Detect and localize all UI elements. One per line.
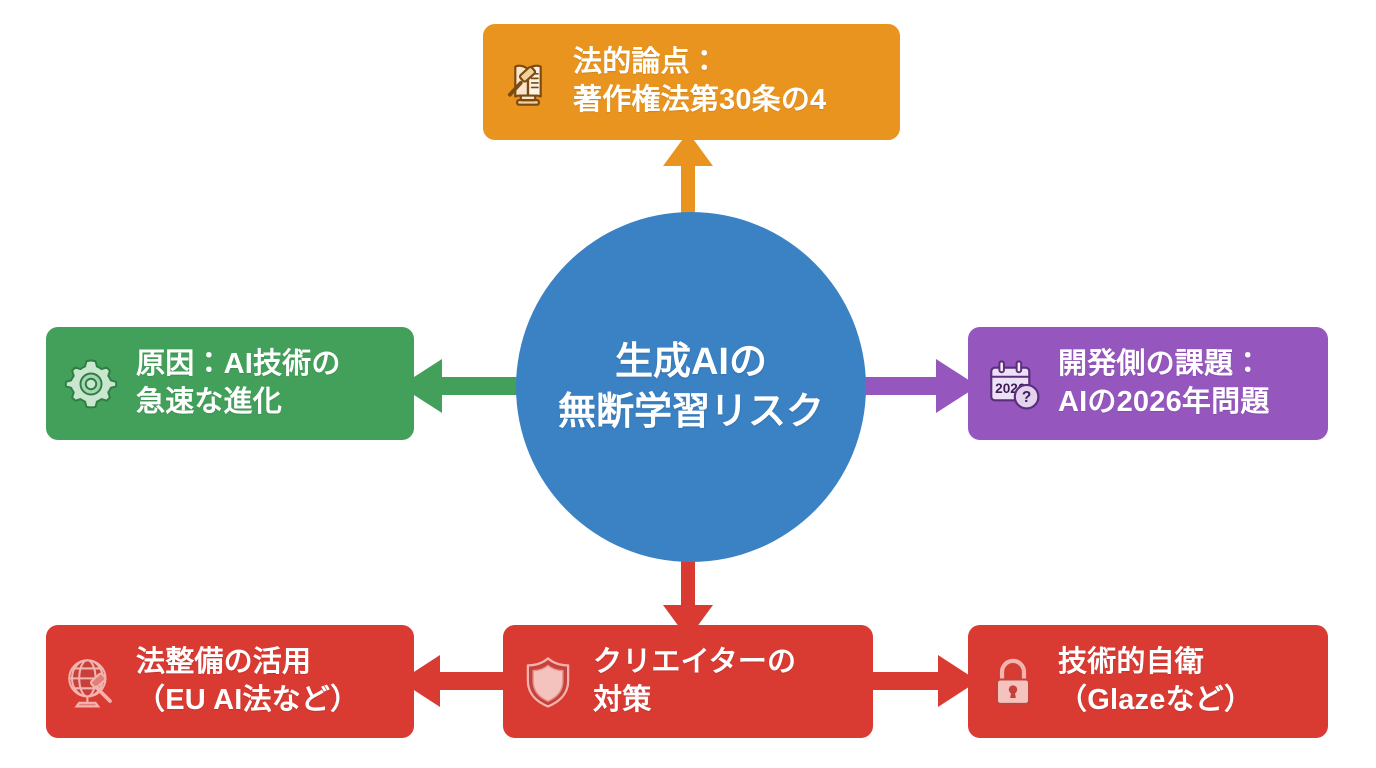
arrow-creator-to-law [398, 652, 518, 710]
node-legal-framework[interactable]: 法整備の活用 （EU AI法など） [46, 625, 414, 738]
arrow-center-to-dev [848, 355, 980, 417]
arrow-center-to-cause [398, 355, 533, 417]
center-node-label: 生成AIの 無断学習リスク [558, 337, 824, 437]
node-developer-issue[interactable]: 2026 ? 開発側の課題： AIの2026年問題 [968, 327, 1328, 440]
node-creator-measures[interactable]: クリエイターの 対策 [503, 625, 873, 738]
globe-gavel-icon [60, 651, 122, 713]
svg-text:?: ? [1022, 389, 1031, 406]
gear-icon [60, 353, 122, 415]
diagram-canvas: 法的論点： 著作権法第30条の4 原因：AI技術の 急速な進化 生成AIの 無断… [0, 0, 1376, 768]
center-node-generative-ai-risk[interactable]: 生成AIの 無断学習リスク [516, 212, 866, 562]
node-cause[interactable]: 原因：AI技術の 急速な進化 [46, 327, 414, 440]
node-technical-defense-label: 技術的自衛 （Glazeなど） [1058, 644, 1253, 719]
node-legal-issue-label: 法的論点： 著作権法第30条の4 [573, 44, 826, 119]
lock-icon [982, 651, 1044, 713]
shield-icon [517, 651, 579, 713]
node-developer-issue-label: 開発側の課題： AIの2026年問題 [1058, 346, 1270, 421]
arrow-creator-to-tech [860, 652, 980, 710]
node-technical-defense[interactable]: 技術的自衛 （Glazeなど） [968, 625, 1328, 738]
node-legal-issue[interactable]: 法的論点： 著作権法第30条の4 [483, 24, 900, 140]
calendar-2026-question-icon: 2026 ? [982, 353, 1044, 415]
node-creator-measures-label: クリエイターの 対策 [593, 644, 796, 719]
gavel-book-icon [497, 51, 559, 113]
node-legal-framework-label: 法整備の活用 （EU AI法など） [136, 644, 359, 719]
node-cause-label: 原因：AI技術の 急速な進化 [136, 346, 341, 421]
